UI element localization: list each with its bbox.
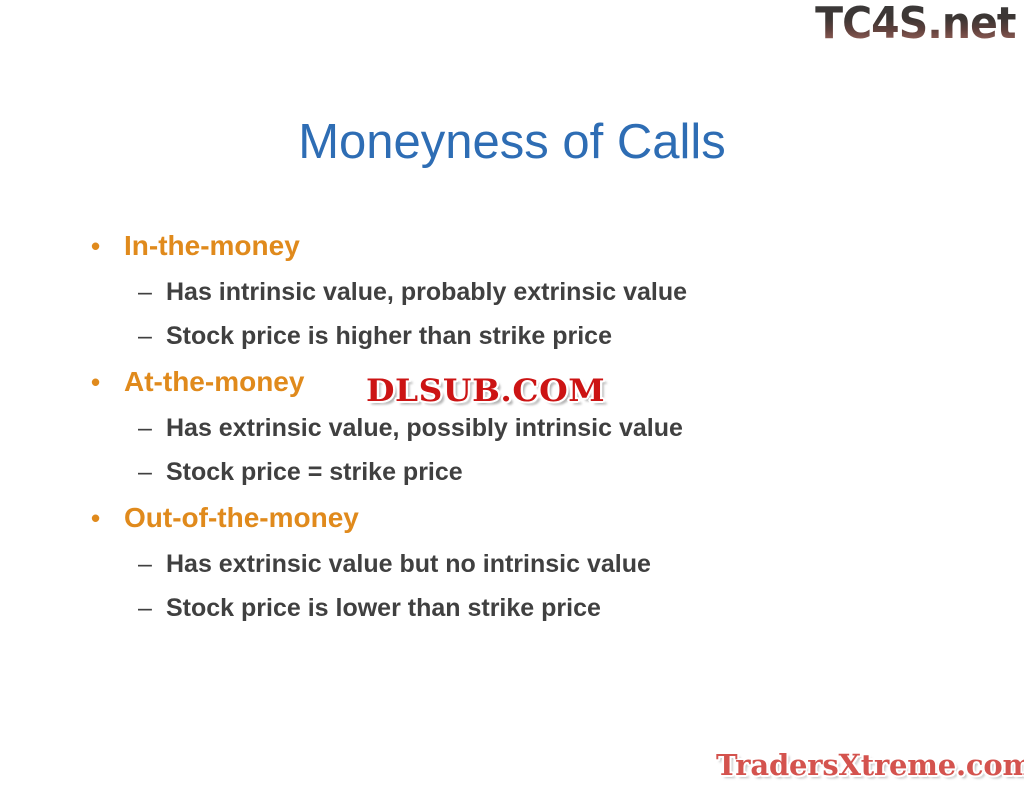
bullet-level2-item: – Stock price is higher than strike pric… xyxy=(0,314,1024,358)
bullet-level2-label: Has intrinsic value, probably extrinsic … xyxy=(166,278,687,306)
tc4s-watermark: TC4S.net xyxy=(816,2,1016,46)
presentation-slide: TC4S.net Moneyness of Calls • In-the-mon… xyxy=(0,0,1024,791)
bullet-level2-label: Has extrinsic value, possibly intrinsic … xyxy=(166,414,683,442)
bullet-level2-label: Has extrinsic value but no intrinsic val… xyxy=(166,550,651,578)
bullet-dash-icon: – xyxy=(138,270,160,314)
bullet-dot-icon: • xyxy=(91,358,105,406)
bullet-level2-label: Stock price is lower than strike price xyxy=(166,594,601,622)
bullet-level2-label: Stock price is higher than strike price xyxy=(166,322,612,350)
bullet-dash-icon: – xyxy=(138,406,160,450)
bullet-level2-item: – Stock price is lower than strike price xyxy=(0,586,1024,630)
bullet-dash-icon: – xyxy=(138,542,160,586)
bullet-dash-icon: – xyxy=(138,450,160,494)
bullet-level2-item: – Has extrinsic value but no intrinsic v… xyxy=(0,542,1024,586)
bullet-dash-icon: – xyxy=(138,314,160,358)
slide-body-content: • In-the-money – Has intrinsic value, pr… xyxy=(0,222,1024,630)
bullet-level2-item: – Has extrinsic value, possibly intrinsi… xyxy=(0,406,1024,450)
bullet-group-in-the-money: • In-the-money – Has intrinsic value, pr… xyxy=(0,222,1024,358)
bullet-level1-in-the-money: • In-the-money xyxy=(0,222,1024,270)
bullet-dot-icon: • xyxy=(91,494,105,542)
dlsub-watermark: DLSUB.COM xyxy=(366,372,605,410)
bullet-dot-icon: • xyxy=(91,222,105,270)
bullet-level1-label: Out-of-the-money xyxy=(124,502,359,533)
bullet-level1-label: At-the-money xyxy=(124,366,304,397)
bullet-level2-item: – Stock price = strike price xyxy=(0,450,1024,494)
bullet-level2-item: – Has intrinsic value, probably extrinsi… xyxy=(0,270,1024,314)
bullet-level1-out-of-the-money: • Out-of-the-money xyxy=(0,494,1024,542)
slide-title: Moneyness of Calls xyxy=(0,116,1024,170)
tradersxtreme-watermark: TradersXtreme.com xyxy=(716,748,1024,782)
bullet-group-out-of-the-money: • Out-of-the-money – Has extrinsic value… xyxy=(0,494,1024,630)
bullet-dash-icon: – xyxy=(138,586,160,630)
bullet-level1-label: In-the-money xyxy=(124,230,300,261)
bullet-level2-label: Stock price = strike price xyxy=(166,458,463,486)
